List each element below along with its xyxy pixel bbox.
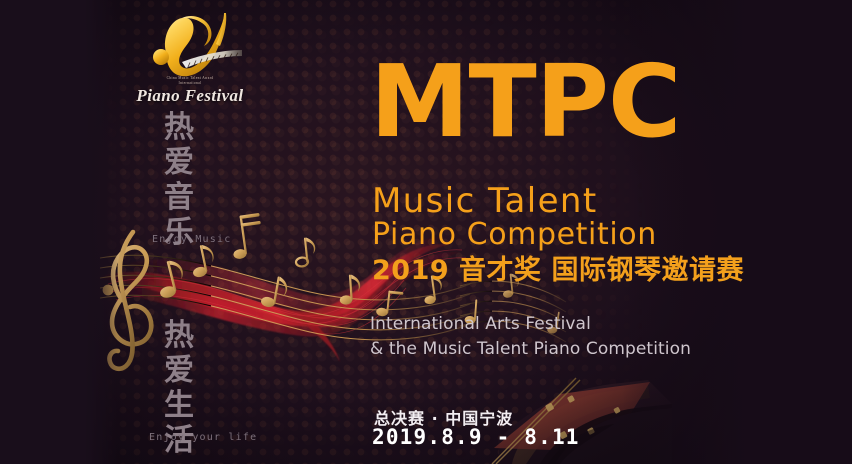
slogan-top-english: Enjoy Music	[152, 234, 231, 245]
english-subtitle-line-2: & the Music Talent Piano Competition	[370, 337, 691, 362]
poster-canvas: China Music Talent Award International P…	[0, 0, 852, 464]
logo-award-line-2: International	[179, 81, 202, 85]
title-line-2: Piano Competition	[372, 218, 657, 252]
slogan-bottom-char-0: 热	[156, 318, 202, 353]
festival-logo: China Music Talent Award International P…	[128, 6, 252, 110]
slogan-top-chinese: 热 爱 音 乐	[156, 110, 202, 250]
slogan-top-char-2: 音	[156, 180, 202, 215]
slogan-top-char-1: 爱	[156, 145, 202, 180]
piano-festival-logo-mark	[128, 6, 252, 80]
logo-wordmark: Piano Festival	[128, 86, 252, 106]
chinese-title: 2019 音才奖 国际钢琴邀请赛	[372, 255, 744, 287]
slogan-bottom-english: Enjoy your life	[149, 432, 257, 443]
main-content: MTPC Music Talent Piano Competition 2019…	[370, 0, 790, 464]
final-date: 2019.8.9 - 8.11	[372, 425, 580, 449]
slogan-bottom-char-2: 生	[156, 388, 202, 423]
title-line-1: Music Talent	[372, 182, 598, 220]
logo-award-line-1: China Music Talent Award	[167, 76, 214, 80]
english-subtitle: International Arts Festival & the Music …	[370, 312, 691, 362]
slogan-bottom-char-1: 爱	[156, 353, 202, 388]
slogan-top-char-0: 热	[156, 110, 202, 145]
english-subtitle-line-1: International Arts Festival	[370, 312, 691, 337]
acronym-title: MTPC	[370, 52, 680, 152]
left-edge-fade	[0, 0, 118, 464]
